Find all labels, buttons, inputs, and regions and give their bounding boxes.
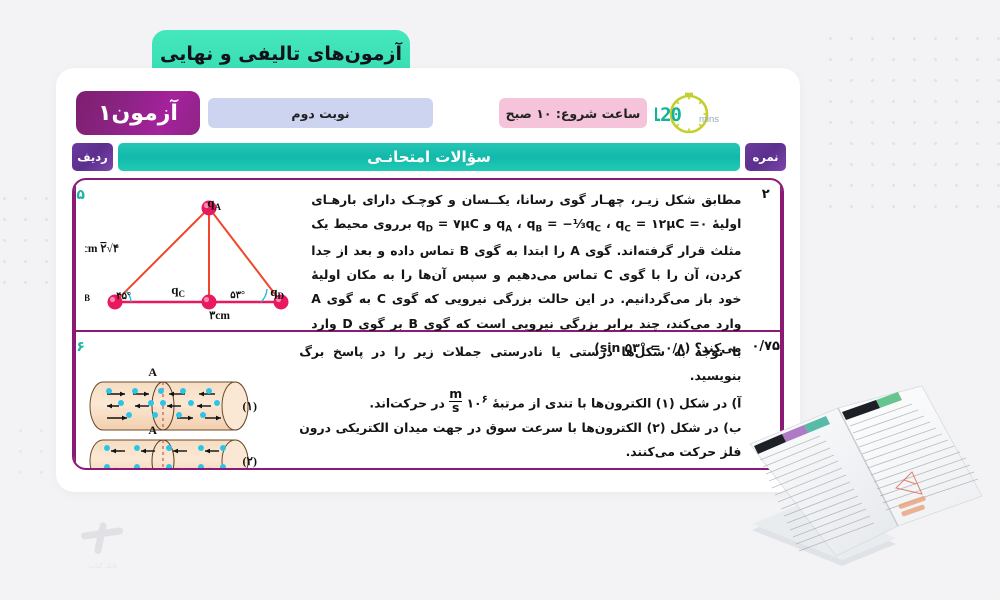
question-6-line-2: آ) در شکل (۱) الکترون‌ها با تندی از مرتب… — [299, 388, 741, 416]
exam-header: آزمون۱ نوبت دوم ساعت شروع: ۱۰ صبح — [56, 90, 800, 136]
row-number-column: ۵ ۶ — [74, 180, 85, 468]
background-dot-pattern-top-right — [820, 28, 1000, 208]
question-6-text: با توجه به شکل‌ها درستی یا نادرستی جملات… — [291, 332, 751, 470]
triangle-charges-diagram: qA qB qC qD ۴√۲ cm ۳cm ۴۵° ۵۳° — [85, 186, 303, 324]
questions-title-band: سؤالات امتحانـی — [118, 143, 740, 171]
exam-start-time-badge: ساعت شروع: ۱۰ صبح — [499, 98, 647, 128]
table-row-q5: مطابق شکل زیـر، چهـار گوی رسانا، یکــسان… — [85, 180, 751, 332]
question-6-line-1: با توجه به شکل‌ها درستی یا نادرستی جملات… — [299, 340, 741, 388]
row-number-column-header: ردیف — [72, 143, 113, 171]
watermark-logo: بانک کتاب — [48, 516, 158, 578]
cylinder-2-label-A: A — [149, 423, 158, 437]
label-qC: qC — [171, 282, 185, 299]
exam-card: آزمون۱ نوبت دوم ساعت شروع: ۱۰ صبح — [56, 68, 800, 492]
exam-duration: 120 mins — [655, 90, 751, 136]
label-angle-45: ۴۵° — [116, 291, 131, 302]
label-side-length: ۴√۲ cm — [85, 242, 119, 255]
question-5-text: مطابق شکل زیـر، چهـار گوی رسانا، یکــسان… — [303, 180, 751, 330]
question-6-line-4: پ) جهـت قـراردادی جریـان الکتریکی I در م… — [299, 464, 741, 470]
section-tag-label: آزمون‌های تالیفی و نهایی — [160, 43, 402, 65]
stopwatch-icon: 120 mins — [655, 90, 751, 136]
table-row-q6: با توجه به شکل‌ها درستی یا نادرستی جملات… — [85, 332, 751, 470]
questions-title-label: سؤالات امتحانـی — [367, 148, 491, 166]
question-6-line-3: ب) در شکل (۲) الکترون‌ها با سرعت سوق در … — [299, 416, 741, 464]
questions-column: مطابق شکل زیـر، چهـار گوی رسانا، یکــسان… — [85, 180, 751, 468]
label-base-length: ۳cm — [209, 310, 230, 322]
table-header-row: ردیف سؤالات امتحانـی نمره — [56, 142, 800, 172]
exam-title-label: آزمون۱ — [98, 101, 178, 126]
label-qA: qA — [207, 195, 221, 212]
question-6-figure: A — [85, 332, 291, 470]
row-number-q6: ۶ — [76, 332, 85, 355]
label-qB: qB — [85, 286, 90, 303]
open-book-photo — [746, 384, 992, 590]
questions-table: ۵ ۶ مطابق شکل زیـر، چهـار گوی رسانا، یکـ… — [72, 178, 784, 470]
cylinder-1-label-A: A — [149, 365, 158, 379]
score-column-header: نمره — [745, 143, 786, 171]
exam-shift-badge: نوبت دوم — [208, 98, 433, 128]
exam-start-time-label: ساعت شروع: ۱۰ صبح — [506, 106, 641, 121]
score-q6: ۰/۷۵ — [751, 332, 780, 354]
stopwatch-unit: mins — [699, 114, 719, 125]
cylinder-2-caption: (۲) — [243, 454, 257, 468]
exam-shift-label: نوبت دوم — [291, 106, 349, 121]
book-bank-logo-icon — [71, 516, 135, 560]
stopwatch-value: 120 — [655, 104, 682, 126]
row-number-column-header-label: ردیف — [77, 150, 108, 164]
row-number-cell-q6: ۶ — [76, 332, 85, 468]
cylinder-1-caption: (۱) — [243, 399, 257, 413]
conductor-cylinders-diagram: A — [85, 360, 291, 470]
exam-title-badge: آزمون۱ — [76, 91, 200, 135]
label-angle-53: ۵۳° — [230, 290, 245, 301]
cylinder-1: A — [90, 365, 257, 430]
score-cell-q5: ۲ — [751, 180, 780, 332]
label-qD: qD — [270, 284, 284, 301]
open-book-illustration — [746, 384, 992, 590]
row-number-q5: ۵ — [76, 180, 85, 203]
score-column-header-label: نمره — [753, 150, 779, 164]
score-q5: ۲ — [751, 180, 780, 202]
question-5-figure: qA qB qC qD ۴√۲ cm ۳cm ۴۵° ۵۳° — [85, 180, 303, 330]
row-number-cell-q5: ۵ — [76, 180, 85, 332]
watermark-text: بانک کتاب — [89, 562, 118, 570]
